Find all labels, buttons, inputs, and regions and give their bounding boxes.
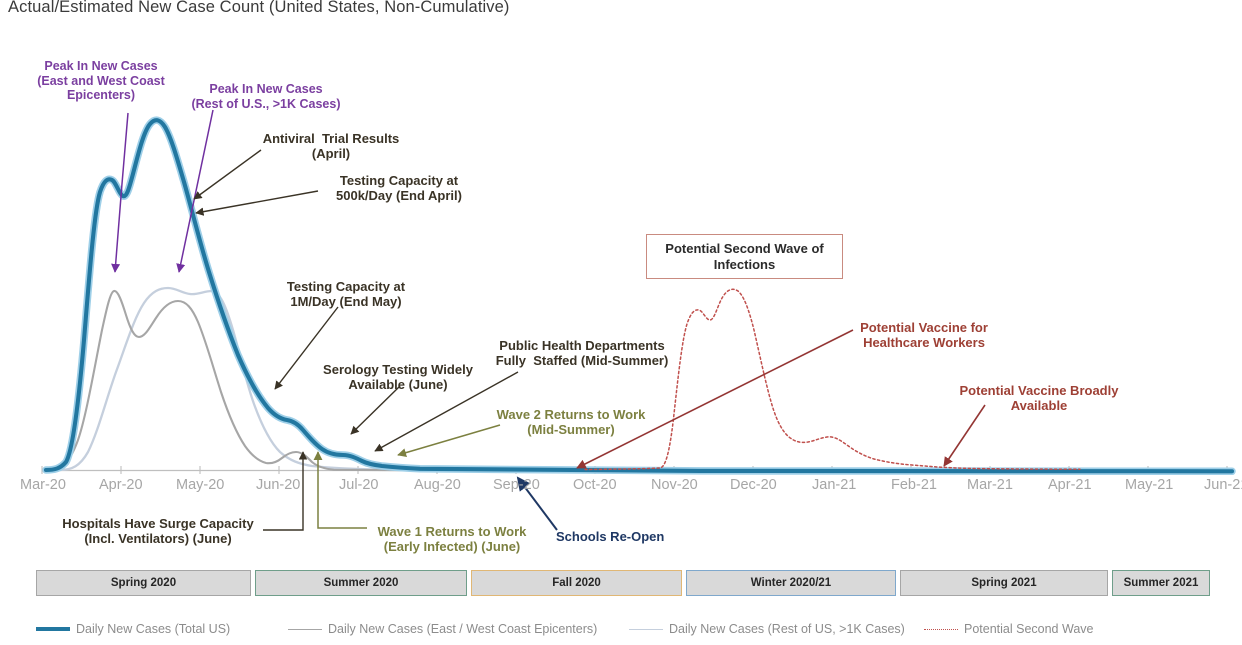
- x-tick-label-nov-20: Nov-20: [651, 477, 698, 493]
- annotation-public-health-staffed: Public Health Departments Fully Staffed …: [484, 338, 680, 368]
- leader-vaccine-broad: [944, 405, 985, 466]
- x-tick-label-sep-20: Sep-20: [493, 477, 540, 493]
- legend-label-epicenters: Daily New Cases (East / West Coast Epice…: [328, 622, 597, 636]
- leader-antiviral: [194, 150, 261, 199]
- legend-swatch-epicenters: [288, 629, 322, 630]
- season-bar-summer-2020[interactable]: Summer 2020: [255, 570, 467, 596]
- leader-serology: [351, 386, 400, 434]
- callout-second-wave: Potential Second Wave of Infections: [646, 234, 843, 279]
- season-bar-winter-2020-21[interactable]: Winter 2020/21: [686, 570, 896, 596]
- x-tick-label-may-21: May-21: [1125, 477, 1173, 493]
- season-bar-summer-2021[interactable]: Summer 2021: [1112, 570, 1210, 596]
- annotation-wave1-returns: Wave 1 Returns to Work (Early Infected) …: [363, 524, 541, 554]
- x-tick-label-aug-20: Aug-20: [414, 477, 461, 493]
- legend-label-second-wave: Potential Second Wave: [964, 622, 1093, 636]
- annotation-vaccine-healthcare: Potential Vaccine for Healthcare Workers: [844, 320, 1004, 350]
- x-tick-label-oct-20: Oct-20: [573, 477, 617, 493]
- annotation-peak-rest-us: Peak In New Cases (Rest of U.S., >1K Cas…: [171, 82, 361, 111]
- legend-item-rest-of-us[interactable]: Daily New Cases (Rest of US, >1K Cases): [629, 622, 905, 636]
- x-tick-label-dec-20: Dec-20: [730, 477, 777, 493]
- series-second-wave: [585, 289, 1080, 469]
- annotation-serology-testing: Serology Testing Widely Available (June): [309, 362, 487, 392]
- annotation-testing-500k: Testing Capacity at 500k/Day (End April): [315, 173, 483, 203]
- legend-swatch-total-us: [36, 627, 70, 631]
- chart-root: Actual/Estimated New Case Count (United …: [0, 0, 1242, 645]
- legend-item-epicenters[interactable]: Daily New Cases (East / West Coast Epice…: [288, 622, 597, 636]
- x-tick-label-jun-21: Jun-21: [1204, 477, 1242, 493]
- x-tick-label-apr-21: Apr-21: [1048, 477, 1092, 493]
- x-tick-label-jun-20: Jun-20: [256, 477, 300, 493]
- x-tick-label-feb-21: Feb-21: [891, 477, 937, 493]
- leader-testing-500k: [196, 191, 318, 213]
- x-tick-label-apr-20: Apr-20: [99, 477, 143, 493]
- x-tick-label-mar-21: Mar-21: [967, 477, 1013, 493]
- x-tick-label-may-20: May-20: [176, 477, 224, 493]
- annotation-schools-reopen: Schools Re-Open: [556, 529, 704, 544]
- annotation-hospitals-surge: Hospitals Have Surge Capacity (Incl. Ven…: [50, 516, 266, 546]
- legend-swatch-rest-of-us: [629, 629, 663, 630]
- annotation-peak-east-west: Peak In New Cases (East and West Coast E…: [6, 59, 196, 103]
- legend-item-total-us[interactable]: Daily New Cases (Total US): [36, 622, 230, 636]
- season-bar-fall-2020[interactable]: Fall 2020: [471, 570, 682, 596]
- annotation-vaccine-broad: Potential Vaccine Broadly Available: [944, 383, 1134, 413]
- legend-label-total-us: Daily New Cases (Total US): [76, 622, 230, 636]
- annotation-testing-1m: Testing Capacity at 1M/Day (End May): [272, 279, 420, 309]
- legend-label-rest-of-us: Daily New Cases (Rest of US, >1K Cases): [669, 622, 905, 636]
- x-tick-label-jan-21: Jan-21: [812, 477, 856, 493]
- chart-legend: Daily New Cases (Total US) Daily New Cas…: [0, 620, 1242, 644]
- season-bar-spring-2021[interactable]: Spring 2021: [900, 570, 1108, 596]
- legend-swatch-second-wave: [924, 629, 958, 630]
- x-tick-label-mar-20: Mar-20: [20, 477, 66, 493]
- annotation-antiviral-trial: Antiviral Trial Results (April): [255, 131, 407, 161]
- annotation-wave2-returns: Wave 2 Returns to Work (Mid-Summer): [488, 407, 654, 437]
- season-bar-spring-2020[interactable]: Spring 2020: [36, 570, 251, 596]
- legend-item-second-wave[interactable]: Potential Second Wave: [924, 622, 1093, 636]
- x-tick-label-jul-20: Jul-20: [339, 477, 379, 493]
